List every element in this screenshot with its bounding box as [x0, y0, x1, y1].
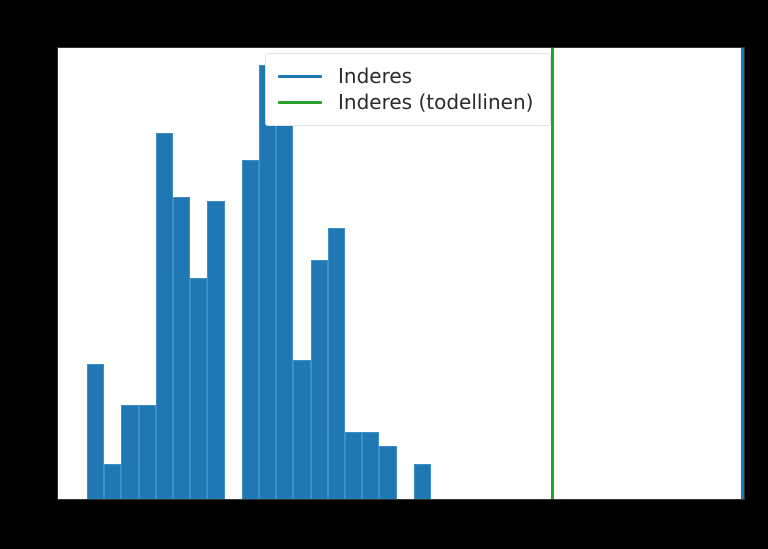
legend-item-label: Inderes [338, 63, 412, 89]
histogram-bar [276, 97, 293, 500]
histogram-bar [328, 228, 345, 500]
legend-swatch-line-icon [278, 75, 322, 78]
histogram-bar [173, 197, 190, 501]
axis-spine-right [744, 47, 745, 500]
axis-spine-bottom [57, 499, 745, 500]
legend-item-label: Inderes (todellinen) [338, 89, 533, 115]
histogram-bar [104, 464, 121, 500]
histogram-bar [242, 160, 259, 500]
legend-item-inderes-todellinen: Inderes (todellinen) [278, 89, 538, 115]
histogram-bar [362, 432, 379, 500]
histogram-bar [139, 405, 156, 500]
chart-legend: Inderes Inderes (todellinen) [265, 53, 551, 126]
histogram-bar [293, 360, 310, 500]
histogram-bar [345, 432, 362, 500]
histogram-bar [207, 201, 224, 500]
histogram-bar [379, 446, 396, 500]
histogram-bar [156, 133, 173, 500]
axis-spine-left [57, 47, 58, 500]
histogram-bar [87, 364, 104, 500]
histogram-bar [311, 260, 328, 500]
histogram-bar [259, 65, 276, 500]
histogram-bar [414, 464, 431, 500]
vline-inderes-todellinen [551, 47, 554, 500]
legend-swatch-line-icon [278, 101, 322, 104]
histogram-bar [121, 405, 138, 500]
figure-canvas: Inderes Inderes (todellinen) [0, 0, 768, 549]
axis-spine-top [57, 47, 745, 48]
legend-item-inderes: Inderes [278, 63, 538, 89]
histogram-bar [190, 278, 207, 500]
